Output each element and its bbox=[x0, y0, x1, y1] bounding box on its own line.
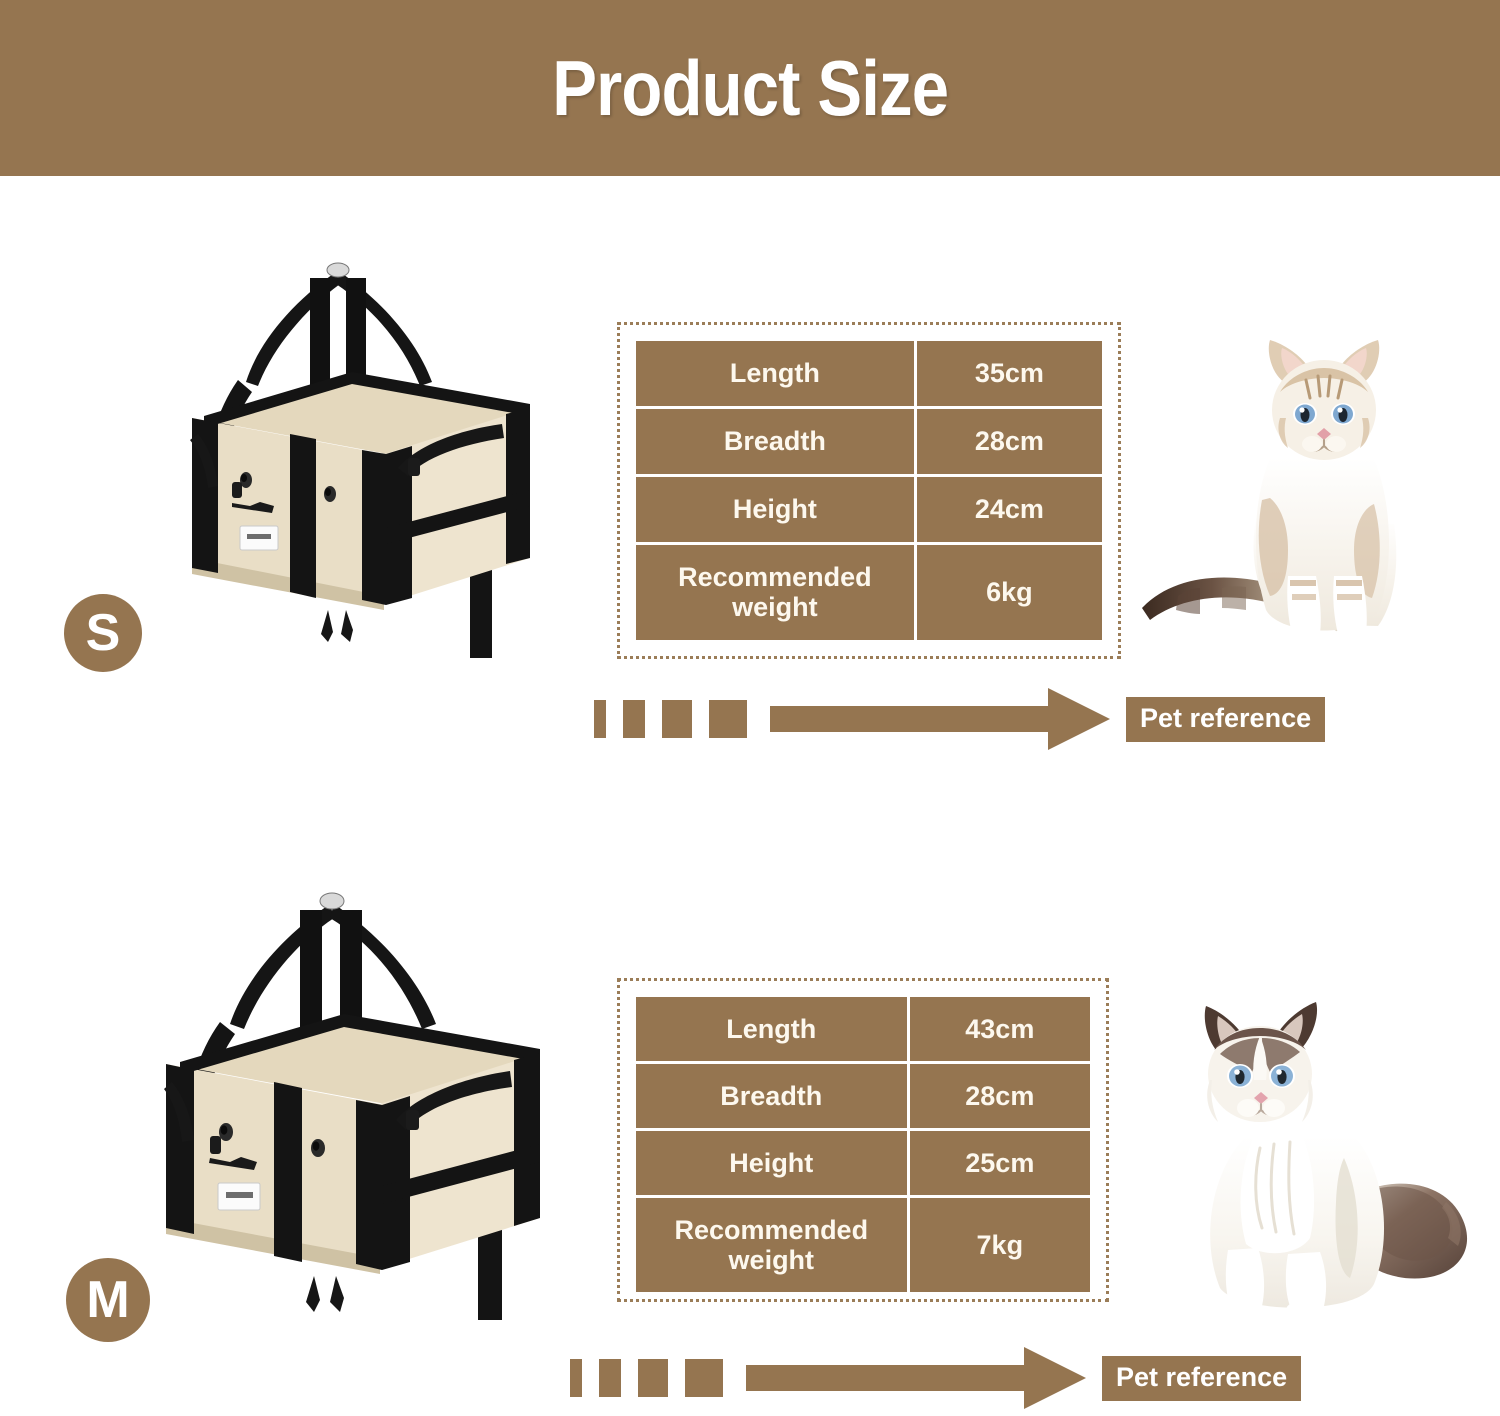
arrow-shaft bbox=[746, 1365, 1024, 1391]
table-cell-value: 25cm bbox=[910, 1131, 1090, 1195]
page-title: Product Size bbox=[552, 49, 948, 127]
table-cell-label: Recommended weight bbox=[636, 545, 914, 640]
table-cell-value: 24cm bbox=[917, 477, 1102, 542]
table-row: Recommended weight 6kg bbox=[636, 545, 1102, 640]
pet-carrier-bag-image-medium bbox=[108, 888, 560, 1320]
arrow-dash-segment bbox=[599, 1359, 621, 1397]
table-cell-label: Breadth bbox=[636, 1064, 907, 1128]
size-table-small: Length 35cm Breadth 28cm Height 24cm Rec… bbox=[617, 322, 1121, 659]
table-cell-value: 28cm bbox=[917, 409, 1102, 474]
table-cell-label-line2: weight bbox=[636, 592, 914, 622]
arrow-dash-segment bbox=[662, 700, 692, 738]
arrow-dash-segment bbox=[709, 700, 747, 738]
table-cell-label: Height bbox=[636, 477, 914, 542]
table-cell-label: Length bbox=[636, 997, 907, 1061]
tabby-cat-image bbox=[1138, 318, 1482, 662]
pet-reference-arrow-row-medium: Pet reference bbox=[570, 1355, 1301, 1401]
table-row: Breadth 28cm bbox=[636, 1064, 1090, 1128]
arrow-dash-segment bbox=[638, 1359, 668, 1397]
table-row: Length 43cm bbox=[636, 997, 1090, 1061]
header-banner: Product Size bbox=[0, 0, 1500, 176]
pet-reference-label: Pet reference bbox=[1102, 1356, 1301, 1401]
table-row: Breadth 28cm bbox=[636, 409, 1102, 474]
arrow-dash-segment bbox=[623, 700, 645, 738]
pet-reference-label: Pet reference bbox=[1126, 697, 1325, 742]
arrow-head-icon bbox=[1024, 1347, 1086, 1409]
arrow-shaft bbox=[770, 706, 1048, 732]
size-badge-label: S bbox=[86, 607, 121, 659]
size-table: Length 43cm Breadth 28cm Height 25cm Rec… bbox=[633, 994, 1093, 1295]
table-cell-value: 6kg bbox=[917, 545, 1102, 640]
table-cell-value: 35cm bbox=[917, 341, 1102, 406]
arrow-dash-segment bbox=[594, 700, 606, 738]
size-table-medium: Length 43cm Breadth 28cm Height 25cm Rec… bbox=[617, 978, 1109, 1302]
table-cell-label: Length bbox=[636, 341, 914, 406]
size-table: Length 35cm Breadth 28cm Height 24cm Rec… bbox=[633, 338, 1105, 643]
table-cell-label-line1: Recommended bbox=[636, 562, 914, 592]
table-row: Height 25cm bbox=[636, 1131, 1090, 1195]
table-cell-label: Breadth bbox=[636, 409, 914, 474]
ragdoll-cat-image bbox=[1148, 988, 1484, 1324]
table-cell-value: 28cm bbox=[910, 1064, 1090, 1128]
size-badge-s: S bbox=[64, 594, 142, 672]
table-cell-label: Height bbox=[636, 1131, 907, 1195]
arrow-dash-segment bbox=[570, 1359, 582, 1397]
arrow-head-icon bbox=[1048, 688, 1110, 750]
table-cell-label-line1: Recommended bbox=[636, 1215, 907, 1245]
arrow-dash-segment bbox=[685, 1359, 723, 1397]
table-row: Length 35cm bbox=[636, 341, 1102, 406]
table-row: Recommended weight 7kg bbox=[636, 1198, 1090, 1292]
table-cell-value: 7kg bbox=[910, 1198, 1090, 1292]
pet-reference-arrow-row-small: Pet reference bbox=[594, 696, 1325, 742]
table-row: Height 24cm bbox=[636, 477, 1102, 542]
table-cell-label-line2: weight bbox=[636, 1245, 907, 1275]
table-cell-value: 43cm bbox=[910, 997, 1090, 1061]
table-cell-label: Recommended weight bbox=[636, 1198, 907, 1292]
pet-carrier-bag-image-small bbox=[140, 258, 540, 658]
